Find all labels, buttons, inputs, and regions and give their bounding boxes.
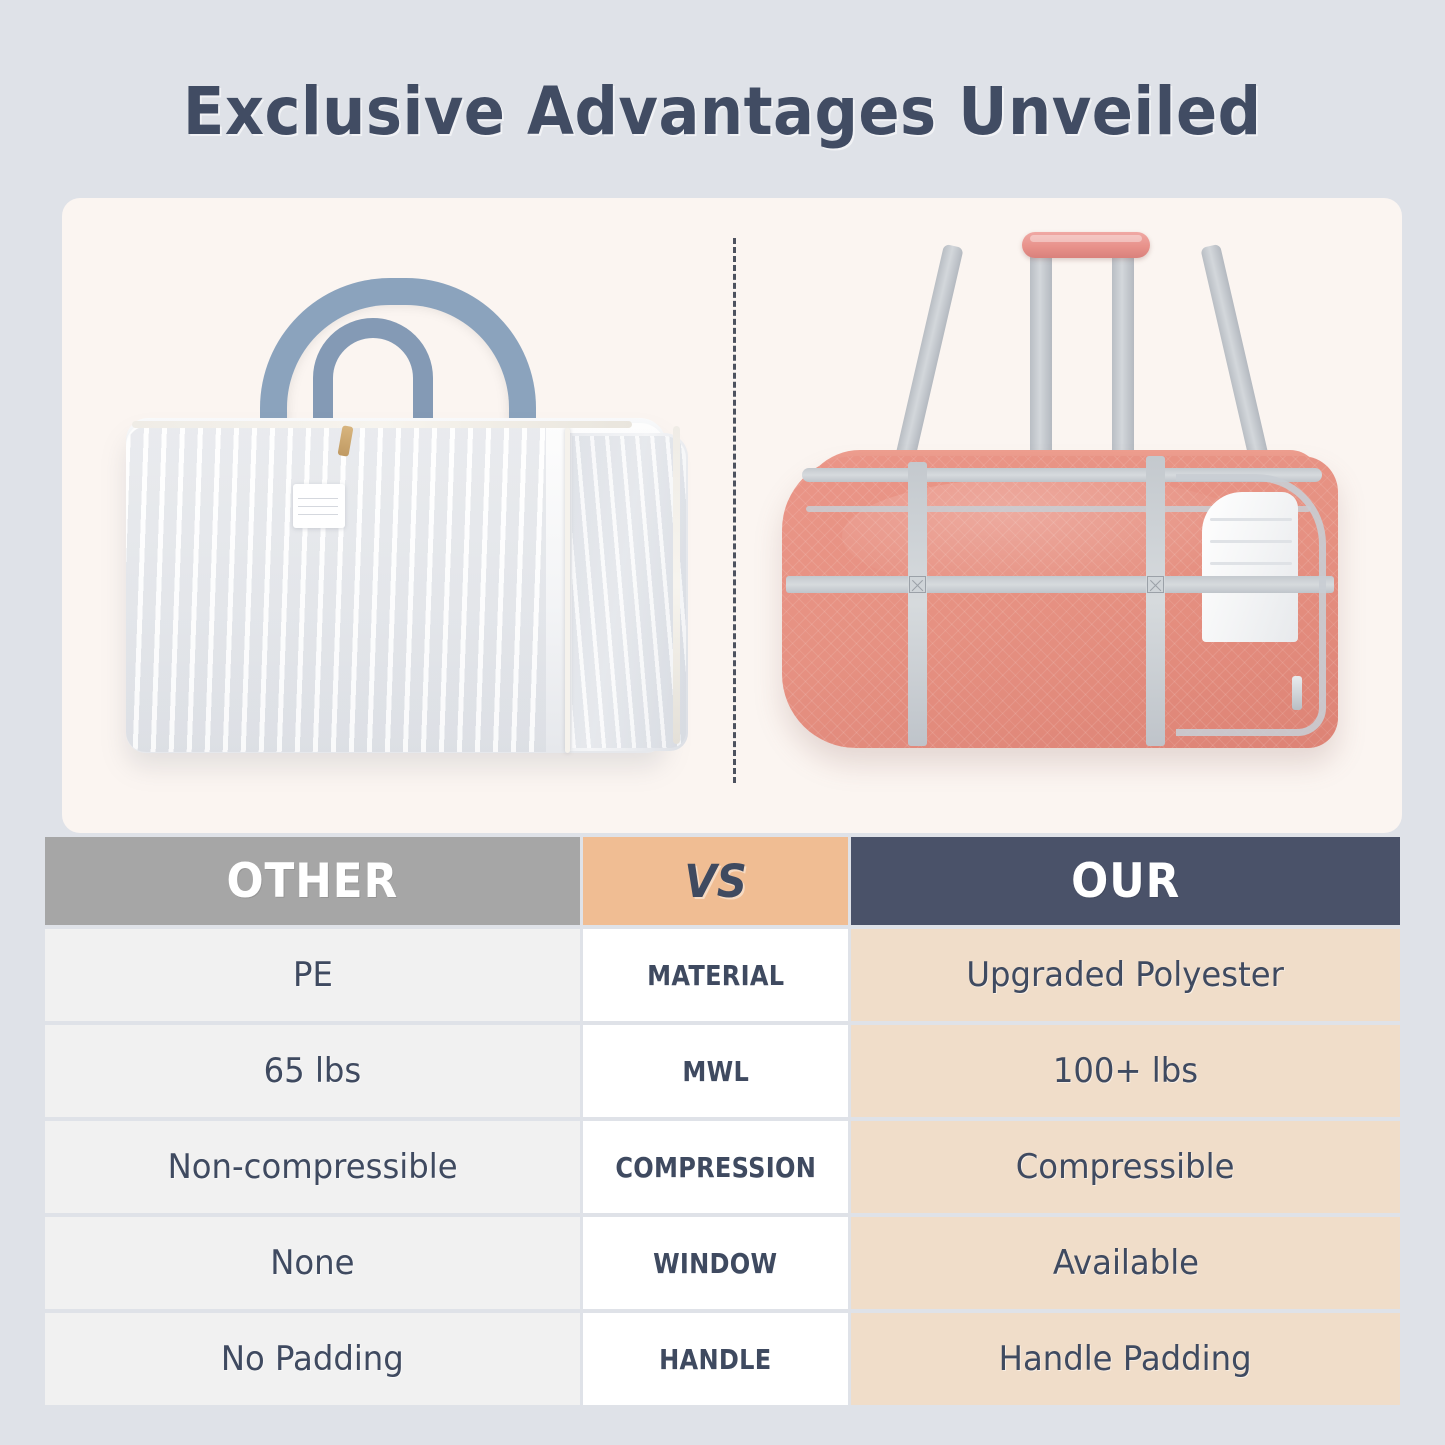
bag-stripe-texture — [126, 426, 546, 752]
product-comparison-images — [62, 198, 1402, 833]
bag-side-stripe-texture — [572, 436, 686, 748]
cell-our-value: Available — [851, 1217, 1400, 1309]
front-pocket-zipper — [1176, 474, 1326, 736]
our-value-text: Handle Padding — [999, 1339, 1252, 1379]
our-product-image — [732, 198, 1402, 833]
table-row: No Padding HANDLE Handle Padding — [45, 1313, 1400, 1405]
other-product-image — [62, 198, 732, 833]
feature-label-text: MATERIAL — [647, 959, 784, 992]
webbing-strap-vertical-right — [1146, 456, 1165, 746]
cell-feature-label: WINDOW — [583, 1217, 848, 1309]
webbing-strap-vertical-left — [908, 462, 927, 746]
x-stitch-box-right — [1147, 576, 1164, 593]
other-value-text: Non-compressible — [168, 1147, 458, 1187]
cell-other-value: None — [45, 1217, 580, 1309]
feature-label-text: MWL — [682, 1055, 749, 1088]
comparison-table: OTHER VS OUR PE MATERIAL Upgraded Polyes… — [45, 837, 1400, 1405]
table-header-row: OTHER VS OUR — [45, 837, 1400, 925]
cell-our-value: Compressible — [851, 1121, 1400, 1213]
duffel-zipper-pull-icon — [1292, 676, 1302, 710]
cell-feature-label: COMPRESSION — [583, 1121, 848, 1213]
cell-other-value: PE — [45, 929, 580, 1021]
cell-other-value: No Padding — [45, 1313, 580, 1405]
our-value-text: Available — [1052, 1243, 1198, 1283]
cell-feature-label: MWL — [583, 1025, 848, 1117]
cell-other-value: Non-compressible — [45, 1121, 580, 1213]
cell-our-value: Handle Padding — [851, 1313, 1400, 1405]
other-storage-bag-illustration — [108, 258, 688, 768]
header-label-other: OTHER — [227, 854, 399, 909]
header-label-our: OUR — [1071, 854, 1180, 909]
page-title-text: Exclusive Advantages Unveiled — [183, 72, 1262, 152]
bag-zipper-line — [132, 421, 632, 428]
page-title: Exclusive Advantages Unveiled — [0, 72, 1445, 152]
table-row: Non-compressible COMPRESSION Compressibl… — [45, 1121, 1400, 1213]
our-value-text: Upgraded Polyester — [967, 955, 1285, 995]
bag-side-zipper-line — [673, 426, 680, 744]
header-label-vs: VS — [684, 855, 747, 908]
other-value-text: 65 lbs — [264, 1051, 362, 1091]
header-cell-other: OTHER — [45, 837, 580, 925]
header-cell-our: OUR — [851, 837, 1400, 925]
other-value-text: None — [270, 1243, 354, 1283]
feature-label-text: HANDLE — [659, 1343, 771, 1376]
bag-name-tag — [293, 484, 345, 528]
table-row: 65 lbs MWL 100+ lbs — [45, 1025, 1400, 1117]
table-row: PE MATERIAL Upgraded Polyester — [45, 929, 1400, 1021]
table-row: None WINDOW Available — [45, 1217, 1400, 1309]
feature-label-text: COMPRESSION — [615, 1151, 816, 1184]
other-value-text: No Padding — [221, 1339, 404, 1379]
handle-grip-highlight — [1030, 235, 1142, 242]
our-value-text: 100+ lbs — [1053, 1051, 1198, 1091]
bag-side-seam — [565, 428, 570, 753]
cell-feature-label: HANDLE — [583, 1313, 848, 1405]
cell-our-value: Upgraded Polyester — [851, 929, 1400, 1021]
our-duffel-bag-illustration — [772, 218, 1372, 778]
feature-label-text: WINDOW — [653, 1247, 777, 1280]
other-value-text: PE — [293, 955, 333, 995]
cell-other-value: 65 lbs — [45, 1025, 580, 1117]
cell-feature-label: MATERIAL — [583, 929, 848, 1021]
header-cell-vs: VS — [583, 837, 848, 925]
cell-our-value: 100+ lbs — [851, 1025, 1400, 1117]
our-value-text: Compressible — [1016, 1147, 1235, 1187]
x-stitch-box-left — [909, 576, 926, 593]
